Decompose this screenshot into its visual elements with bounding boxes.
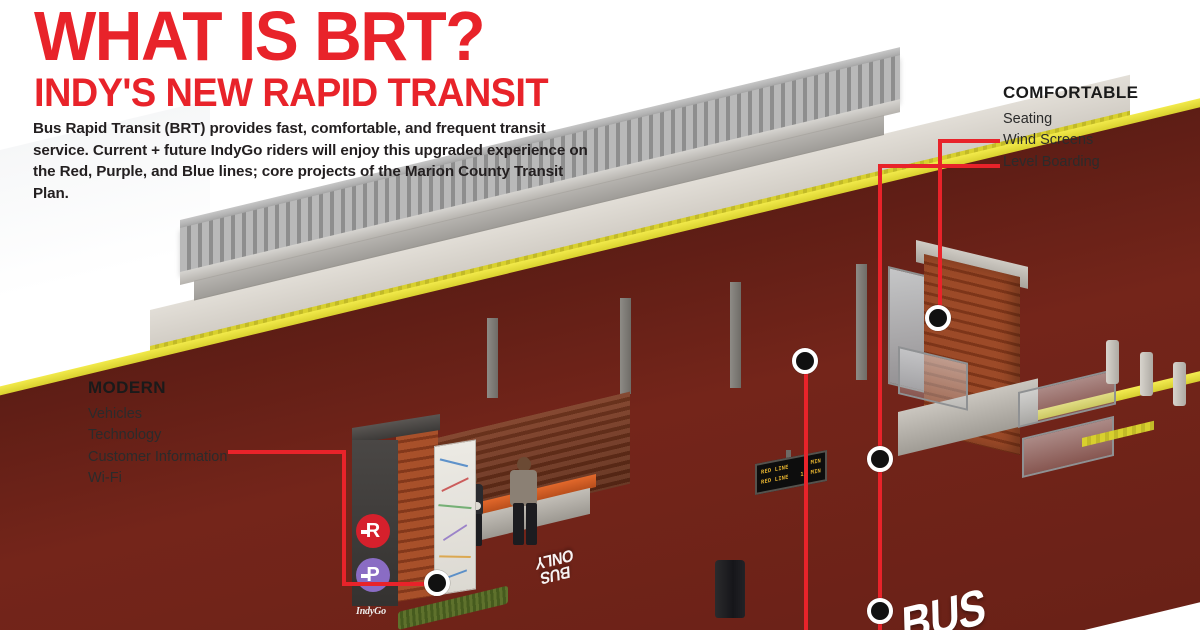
callout-item-level-boarding: Level Boarding [1003,152,1138,173]
infographic-canvas: BUS ONLY BUS ONLY [0,0,1200,630]
canopy-column-3 [730,282,741,388]
canopy-column-1 [487,318,498,398]
red-line-badge: R [356,514,390,548]
connector-line-technology [804,362,808,630]
badge-bar [361,574,370,578]
callout-dot-technology[interactable] [792,348,818,374]
connector-line-customer-info-horizontal [228,450,346,454]
callout-modern-title: MODERN [88,378,227,398]
purple-line-badge: P [356,558,390,592]
connector-line-customer-info-vertical [342,450,346,586]
connector-line-level-boarding-horizontal [878,164,1000,168]
callout-dot-seating[interactable] [867,598,893,624]
canopy-column-4 [856,264,867,380]
callout-item-wifi: Wi-Fi [88,468,227,489]
trash-receptacle [715,560,745,618]
callout-item-customer-information: Customer Information [88,447,227,468]
connector-line-wind-screens-horizontal [938,139,1000,143]
callout-item-vehicles: Vehicles [88,404,227,425]
badge-bar [361,530,370,534]
callout-comfortable: COMFORTABLE Seating Wind Screens Level B… [1003,83,1138,173]
page-title: WHAT IS BRT? [34,4,484,68]
passenger-leg [526,503,537,545]
callout-dot-level-boarding[interactable] [867,446,893,472]
callout-modern: MODERN Vehicles Technology Customer Info… [88,378,227,489]
indygo-logo: IndyGo [356,606,400,617]
bollard [1173,362,1186,406]
connector-line-level-boarding-vertical [878,164,882,460]
callout-dot-customer-information[interactable] [424,570,450,596]
passenger-leg [513,503,524,545]
callout-item-technology: Technology [88,425,227,446]
callout-comfortable-title: COMFORTABLE [1003,83,1138,103]
bollard [1140,352,1153,396]
intro-paragraph: Bus Rapid Transit (BRT) provides fast, c… [33,118,593,204]
callout-dot-wind-screens[interactable] [925,305,951,331]
page-subtitle: INDY'S NEW RAPID TRANSIT [34,74,548,114]
callout-item-wind-screens: Wind Screens [1003,130,1138,151]
callout-item-seating: Seating [1003,109,1138,130]
passenger-torso [510,470,537,506]
canopy-column-2 [620,298,631,394]
information-kiosk: R P IndyGo [352,422,482,617]
connector-line-customer-info-lower [342,582,434,586]
bollard [1106,340,1119,384]
